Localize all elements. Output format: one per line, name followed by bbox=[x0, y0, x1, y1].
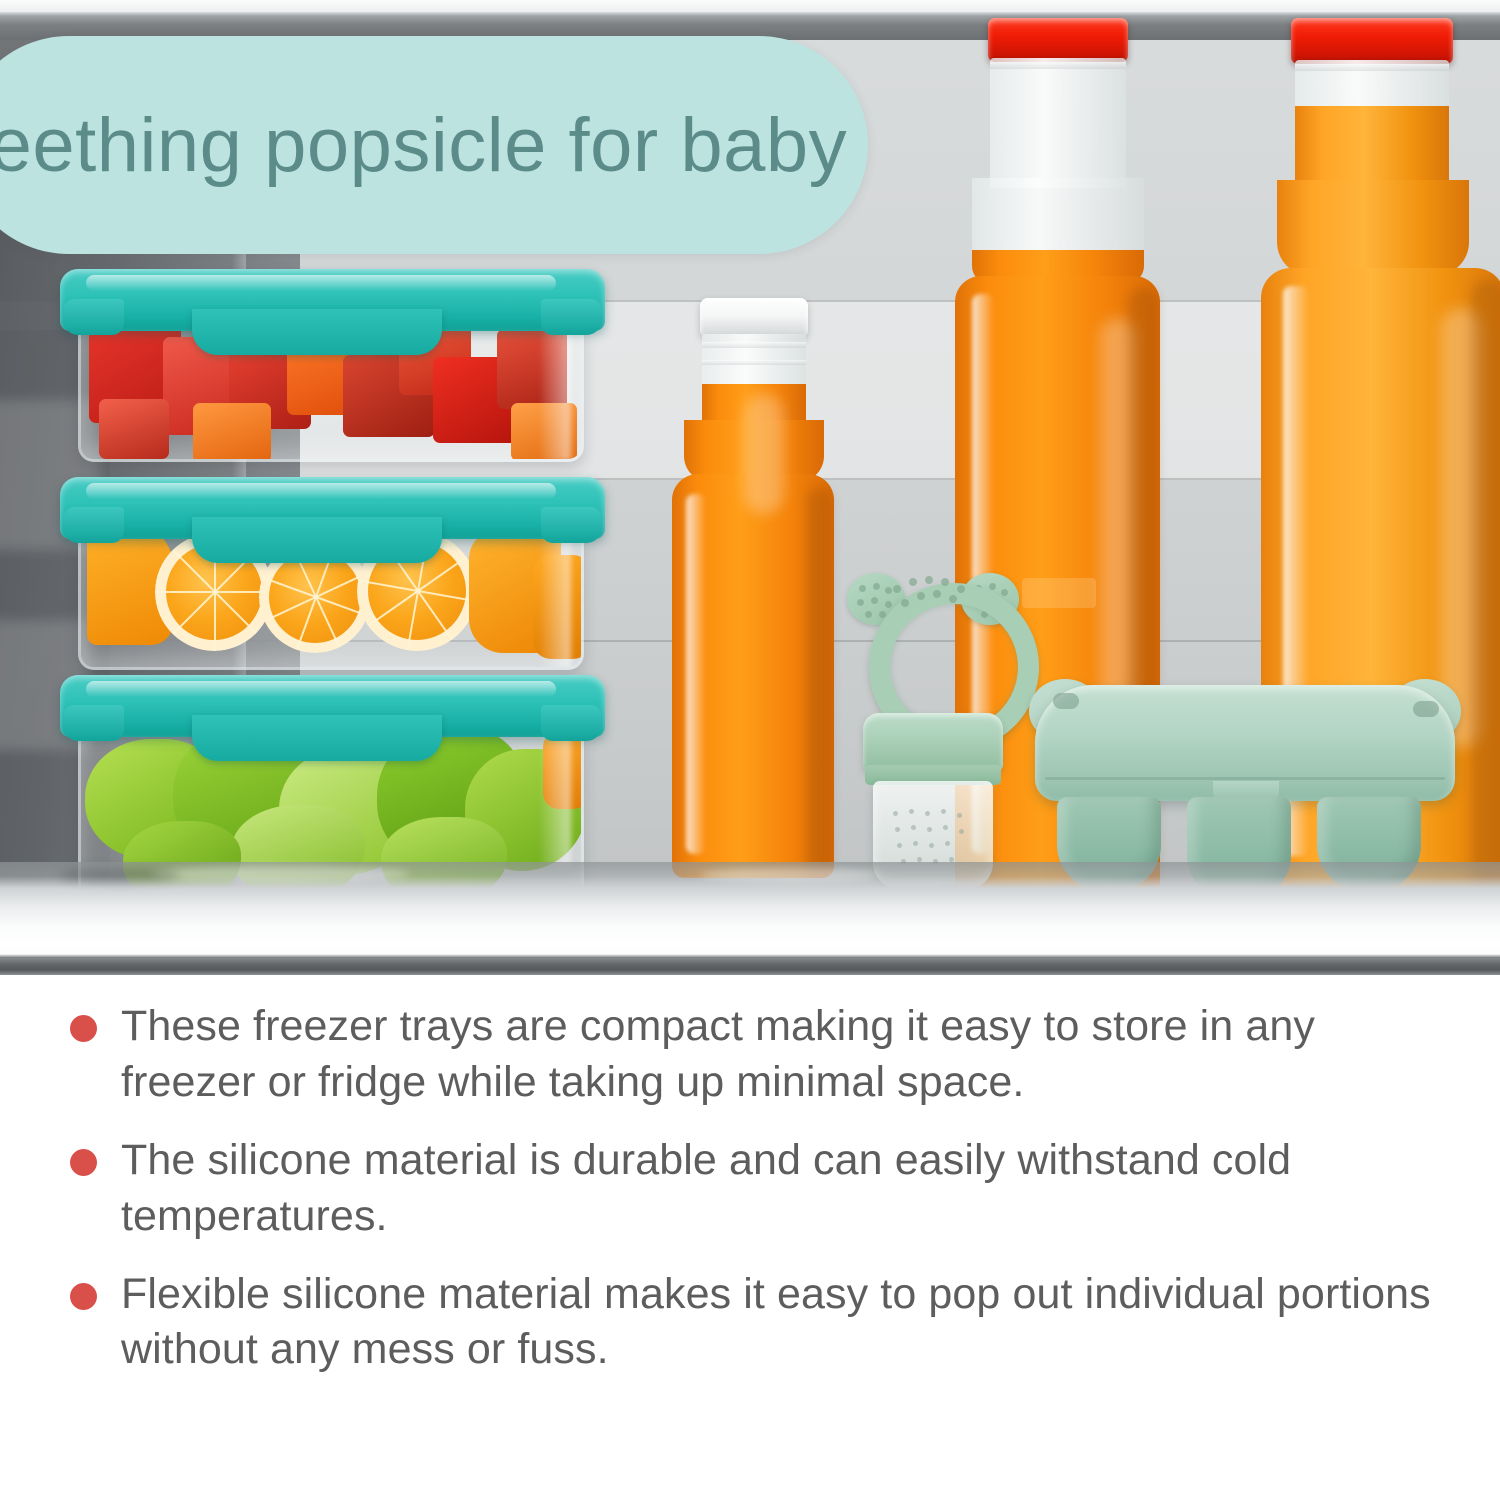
headline-text: teething popsicle for baby bbox=[0, 102, 847, 189]
lid-tab-right bbox=[541, 705, 601, 741]
product-feature-page: teething popsicle for baby These freezer… bbox=[0, 0, 1500, 1500]
bottle-neck-ring bbox=[702, 360, 806, 365]
ring-texture-dot bbox=[925, 576, 933, 584]
basket-mesh-hole bbox=[957, 813, 962, 818]
ring-texture-dot bbox=[949, 595, 957, 603]
ear-texture-dot bbox=[1001, 589, 1008, 596]
basket-mesh-hole bbox=[943, 825, 948, 830]
shelf-reflection bbox=[150, 866, 410, 882]
bullet-text: The silicone material is durable and can… bbox=[121, 1133, 1451, 1245]
lid-tab-right bbox=[541, 299, 601, 335]
bottle-neck-ring bbox=[1295, 64, 1449, 71]
lid-tab-left bbox=[64, 705, 124, 741]
lid-tab-right bbox=[541, 507, 601, 543]
bullet-dot-icon bbox=[70, 1283, 97, 1310]
tray-notch-right bbox=[1413, 701, 1439, 717]
ring-texture-dot bbox=[893, 585, 901, 593]
pepper-chunk bbox=[99, 399, 169, 459]
basket-mesh-hole bbox=[911, 825, 916, 830]
teething-feeder bbox=[845, 565, 1020, 895]
tray-lid-seam bbox=[1045, 777, 1445, 780]
bottle-glass bbox=[990, 58, 1126, 188]
bottle-label-emboss bbox=[1022, 578, 1096, 608]
basket-mesh-hole bbox=[909, 809, 914, 814]
tray-notch-left bbox=[1053, 693, 1079, 709]
bullet-text: These freezer trays are compact making i… bbox=[121, 999, 1451, 1111]
ring-texture-dot bbox=[941, 578, 949, 586]
bottle-glare bbox=[686, 494, 706, 854]
bottle-neck-ring bbox=[990, 62, 1126, 69]
bottle-shading bbox=[1471, 280, 1500, 888]
shelf-reflection bbox=[700, 868, 880, 882]
stacked-food-containers bbox=[60, 255, 605, 895]
bullet-dot-icon bbox=[70, 1149, 97, 1176]
bottle-cap-red bbox=[1291, 18, 1453, 64]
list-item: Flexible silicone material makes it easy… bbox=[0, 1267, 1500, 1379]
headline-banner: teething popsicle for baby bbox=[0, 36, 868, 254]
container-lid-teal bbox=[60, 269, 605, 331]
container-lid-teal bbox=[60, 477, 605, 539]
ear-texture-dot bbox=[989, 583, 996, 590]
lid-tab-left bbox=[64, 507, 124, 543]
basket-mesh-hole bbox=[941, 809, 946, 814]
basket-mesh-hole bbox=[929, 843, 934, 848]
ear-texture-dot bbox=[885, 601, 892, 608]
basket-mesh-hole bbox=[913, 841, 918, 846]
ear-texture-dot bbox=[871, 597, 878, 604]
basket-mesh-hole bbox=[925, 811, 930, 816]
bottle-cap-white bbox=[700, 298, 808, 338]
ear-texture-dot bbox=[865, 611, 872, 618]
basket-mesh-hole bbox=[895, 827, 900, 832]
shelf-reflection bbox=[60, 868, 180, 882]
bottle-soft-glare bbox=[744, 394, 784, 514]
basket-mesh-hole bbox=[945, 841, 950, 846]
ring-texture-dot bbox=[933, 590, 941, 598]
lid-tab-left bbox=[64, 299, 124, 335]
lid-highlight bbox=[86, 483, 556, 499]
bullet-dot-icon bbox=[70, 1015, 97, 1042]
bottle-cap-red bbox=[988, 18, 1128, 62]
orange-segment bbox=[156, 591, 215, 593]
basket-mesh-hole bbox=[897, 843, 902, 848]
basket-mesh-hole bbox=[959, 829, 964, 834]
bullet-text: Flexible silicone material makes it easy… bbox=[121, 1267, 1451, 1379]
ear-texture-dot bbox=[873, 583, 880, 590]
feeder-cap bbox=[863, 713, 1003, 773]
bottle-shading bbox=[806, 488, 832, 876]
list-item: These freezer trays are compact making i… bbox=[0, 999, 1500, 1111]
pepper-chunk bbox=[193, 403, 271, 462]
bottle-juice bbox=[1277, 180, 1469, 276]
ring-texture-dot bbox=[901, 599, 909, 607]
ring-texture-dot bbox=[917, 592, 925, 600]
ring-texture-dot bbox=[909, 578, 917, 586]
shelf-front-edge bbox=[0, 958, 1500, 975]
orange-segment bbox=[214, 592, 216, 651]
basket-mesh-hole bbox=[893, 811, 898, 816]
list-item: The silicone material is durable and can… bbox=[0, 1133, 1500, 1245]
bottle-juice bbox=[1295, 106, 1449, 188]
lid-highlight bbox=[86, 681, 556, 697]
ear-texture-dot bbox=[859, 585, 866, 592]
container-lid-teal bbox=[60, 675, 605, 737]
ring-texture-dot bbox=[957, 585, 965, 593]
ear-texture-dot bbox=[857, 599, 864, 606]
basket-mesh-hole bbox=[927, 827, 932, 832]
feature-bullet-list: These freezer trays are compact making i… bbox=[0, 975, 1500, 1500]
shelf-highlight bbox=[0, 0, 1500, 12]
ear-texture-dot bbox=[885, 587, 892, 594]
lid-highlight bbox=[86, 275, 556, 291]
bottle-neck-ring bbox=[702, 342, 806, 348]
juice-bottle-small bbox=[670, 298, 835, 890]
